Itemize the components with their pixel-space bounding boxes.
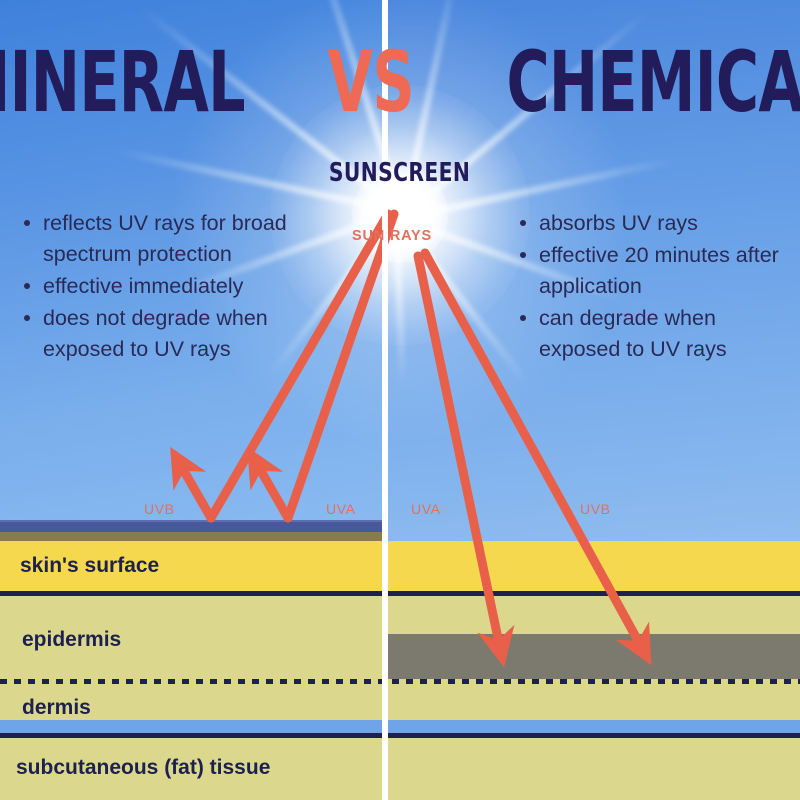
layer-label-epidermis: epidermis xyxy=(22,628,121,652)
layer-divider-solid xyxy=(0,591,800,596)
title-word-mineral: MINERAL xyxy=(0,40,245,124)
uv-label-uvb-right: UVB xyxy=(580,501,611,517)
list-item: can degrade when exposed to UV rays xyxy=(516,303,786,365)
title-vs: VS xyxy=(327,40,416,124)
mineral-sunscreen-film xyxy=(0,522,382,532)
page-subtitle: SUNSCREEN xyxy=(0,158,800,188)
title-word-chemical: CHEMICAL xyxy=(506,40,800,124)
bullet-text: effective 20 minutes after application xyxy=(539,243,779,298)
page-title: MINERAL VS CHEMICAL xyxy=(0,36,800,128)
bullet-text: absorbs UV rays xyxy=(539,211,698,235)
bullet-dot-icon xyxy=(24,283,30,289)
sun-rays-label: SUN RAYS xyxy=(352,228,432,244)
chemical-benefits-list: absorbs UV rays effective 20 minutes aft… xyxy=(516,208,786,366)
mineral-benefits-list: reflects UV rays for broad spectrum prot… xyxy=(20,208,320,366)
skin-cross-section: skin's surface epidermis dermis subcutan… xyxy=(0,541,800,800)
layer-label-surface: skin's surface xyxy=(20,554,159,578)
bullet-text: effective immediately xyxy=(43,274,243,298)
bullet-dot-icon xyxy=(520,315,526,321)
bullet-text: can degrade when exposed to UV rays xyxy=(539,306,727,361)
subtitle-text: SUNSCREEN xyxy=(329,158,470,188)
list-item: effective immediately xyxy=(20,271,320,302)
list-item: effective 20 minutes after application xyxy=(516,240,786,302)
bullet-dot-icon xyxy=(24,315,30,321)
uv-label-uvb-left: UVB xyxy=(144,501,175,517)
list-item: does not degrade when exposed to UV rays xyxy=(20,303,320,365)
bullet-dot-icon xyxy=(520,252,526,258)
layer-label-subcutaneous: subcutaneous (fat) tissue xyxy=(16,756,270,780)
uv-label-uva-right: UVA xyxy=(411,501,441,517)
mineral-film-base xyxy=(0,532,382,541)
absorption-band xyxy=(388,634,800,679)
list-item: absorbs UV rays xyxy=(516,208,786,239)
uv-label-uva-left: UVA xyxy=(326,501,356,517)
bullet-text: does not degrade when exposed to UV rays xyxy=(43,306,268,361)
list-item: reflects UV rays for broad spectrum prot… xyxy=(20,208,320,270)
bullet-dot-icon xyxy=(520,220,526,226)
infographic-canvas: skin's surface epidermis dermis subcutan… xyxy=(0,0,800,800)
layer-divider-dotted xyxy=(0,679,800,684)
bullet-dot-icon xyxy=(24,220,30,226)
bullet-text: reflects UV rays for broad spectrum prot… xyxy=(43,211,287,266)
layer-label-dermis: dermis xyxy=(22,696,91,720)
